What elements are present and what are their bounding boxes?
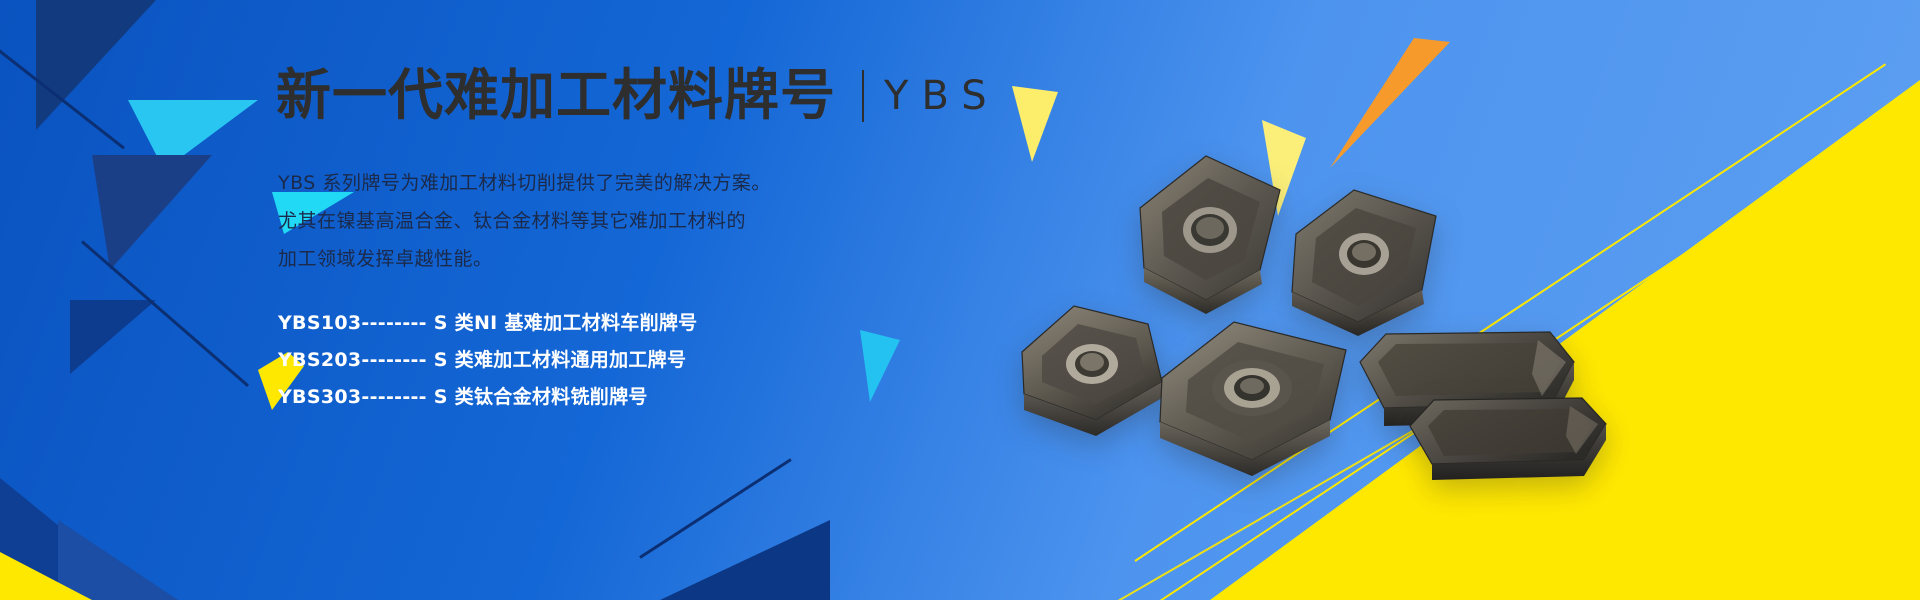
grade-item-ybs103: YBS103-------- S 类NI 基难加工材料车削牌号 — [278, 305, 697, 342]
description-paragraph: YBS 系列牌号为难加工材料切削提供了完美的解决方案。 尤其在镍基高温合金、钛合… — [278, 164, 771, 278]
navy-triangle-mid-left — [92, 155, 212, 270]
hero-banner: 新一代难加工材料牌号 YBS YBS 系列牌号为难加工材料切削提供了完美的解决方… — [0, 0, 1920, 600]
product-insert-cluster — [980, 150, 1600, 480]
insert-bar-lower-right — [1404, 386, 1614, 506]
headline-divider — [862, 70, 864, 122]
grade-list: YBS103-------- S 类NI 基难加工材料车削牌号 YBS203--… — [278, 305, 697, 416]
page-title: 新一代难加工材料牌号 — [276, 68, 836, 123]
grade-item-ybs303: YBS303-------- S 类钛合金材料铣削牌号 — [278, 379, 697, 416]
description-line-2: 尤其在镍基高温合金、钛合金材料等其它难加工材料的 — [278, 202, 771, 240]
description-line-3: 加工领域发挥卓越性能。 — [278, 240, 771, 278]
orange-triangle — [1330, 38, 1450, 168]
insert-facemill-center — [1148, 308, 1368, 478]
headline-row: 新一代难加工材料牌号 YBS — [276, 68, 1000, 123]
navy-shape-bottom-left-2 — [58, 520, 178, 600]
description-line-1: YBS 系列牌号为难加工材料切削提供了完美的解决方案。 — [278, 164, 771, 202]
brand-code: YBS — [884, 76, 1000, 116]
navy-triangle-lower-left — [70, 300, 156, 374]
grade-item-ybs203: YBS203-------- S 类难加工材料通用加工牌号 — [278, 342, 697, 379]
